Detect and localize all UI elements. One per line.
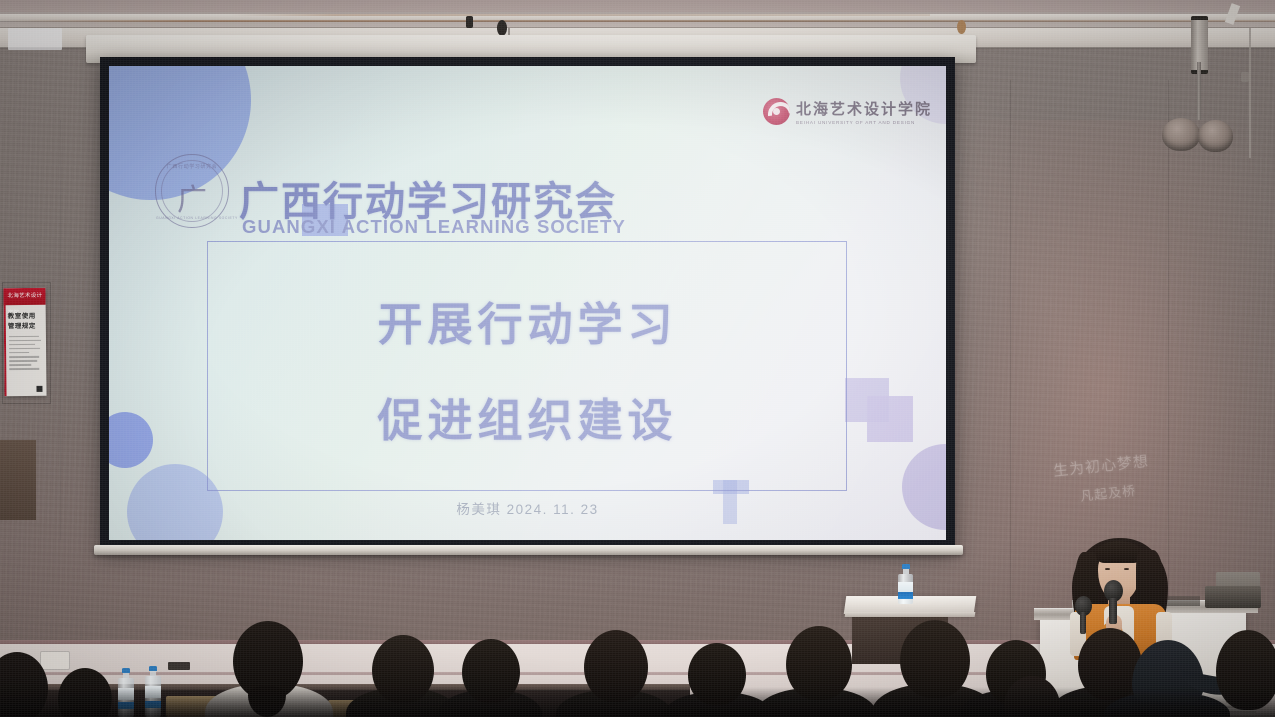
lectern-equipment-slot xyxy=(1205,586,1261,608)
audience-head xyxy=(584,630,648,702)
water-bottle-on-table xyxy=(898,564,913,604)
ceiling-sensor xyxy=(497,20,507,36)
wall-seam xyxy=(1168,80,1169,640)
presentation-slide: 广西行动学习研究会 广 GUANGXI ACTION LEARNING SOCI… xyxy=(109,66,946,540)
bottle-label-band xyxy=(145,701,161,708)
ceiling-label-tag xyxy=(8,28,62,50)
audience-head xyxy=(372,635,434,703)
slide-title-line-1: 开展行动学习 xyxy=(109,288,946,353)
wall-seam xyxy=(1010,80,1011,640)
hanging-wire xyxy=(1249,28,1251,158)
ceiling-rust-streak xyxy=(230,14,930,16)
audience-head xyxy=(786,626,852,700)
wire-clamp xyxy=(1241,72,1249,82)
water-bottle-front-2 xyxy=(145,666,161,717)
bottle-label xyxy=(145,686,161,698)
seal-center-glyph: 广 xyxy=(156,175,228,219)
bottle-label-band xyxy=(898,592,913,599)
stage-table-edge xyxy=(845,612,976,617)
bottle-body xyxy=(118,678,134,717)
society-seal-icon: 广西行动学习研究会 广 GUANGXI ACTION LEARNING SOCI… xyxy=(155,154,229,228)
seal-arc-top-text: 广西行动学习研究会 xyxy=(156,163,228,170)
audience-head xyxy=(462,639,520,703)
audience-head xyxy=(688,643,746,705)
poster-frame xyxy=(2,282,51,404)
university-name-cn: 北海艺术设计学院 xyxy=(796,98,932,119)
spiral-mark-icon xyxy=(763,98,790,125)
bottle-body xyxy=(145,676,161,717)
water-bottle-front-1 xyxy=(118,668,134,717)
microphone-second-body xyxy=(1080,612,1086,634)
hanging-rod xyxy=(1197,62,1201,120)
bottle-body xyxy=(898,574,913,604)
wall-seam xyxy=(60,120,61,540)
slide-byline: 杨美琪 2024. 11. 23 xyxy=(109,498,946,518)
seal-arc-bottom-text: GUANGXI ACTION LEARNING SOCIETY xyxy=(156,216,228,220)
microphone-body xyxy=(1109,598,1117,624)
audience-head xyxy=(1216,630,1275,710)
wall-panel-left xyxy=(0,440,36,520)
university-name-en: BEIHAI UNIVERSITY OF ART AND DESIGN xyxy=(796,120,932,125)
audience-head xyxy=(900,620,970,698)
projector-screen-weight-bar xyxy=(94,545,963,555)
society-name-en: GUANGXI ACTION LEARNING SOCIETY xyxy=(242,216,626,238)
ceiling-fixture xyxy=(957,20,966,34)
ceiling-seam xyxy=(0,27,1275,28)
lecture-hall-photo: 北海艺术设计学院 教室使用管理规定 生为初心梦想 凡起及桥 xyxy=(0,0,1275,717)
bottle-label-band xyxy=(118,702,134,709)
wall-outlet[interactable] xyxy=(40,651,70,670)
ceiling-rust-streak xyxy=(0,20,1275,22)
bottle-label xyxy=(118,688,134,700)
hanging-speaker-left-icon xyxy=(1162,118,1200,151)
ceiling-bracket xyxy=(466,16,473,28)
slide-frame-rect xyxy=(207,241,847,491)
hanging-speaker-right-icon xyxy=(1198,120,1233,152)
projection-screen: 广西行动学习研究会 广 GUANGXI ACTION LEARNING SOCI… xyxy=(100,57,955,549)
university-logo: 北海艺术设计学院 BEIHAI UNIVERSITY OF ART AND DE… xyxy=(763,98,932,125)
wall-fixture-dark xyxy=(168,662,190,670)
slide-title-line-2: 促进组织建设 xyxy=(109,384,946,449)
